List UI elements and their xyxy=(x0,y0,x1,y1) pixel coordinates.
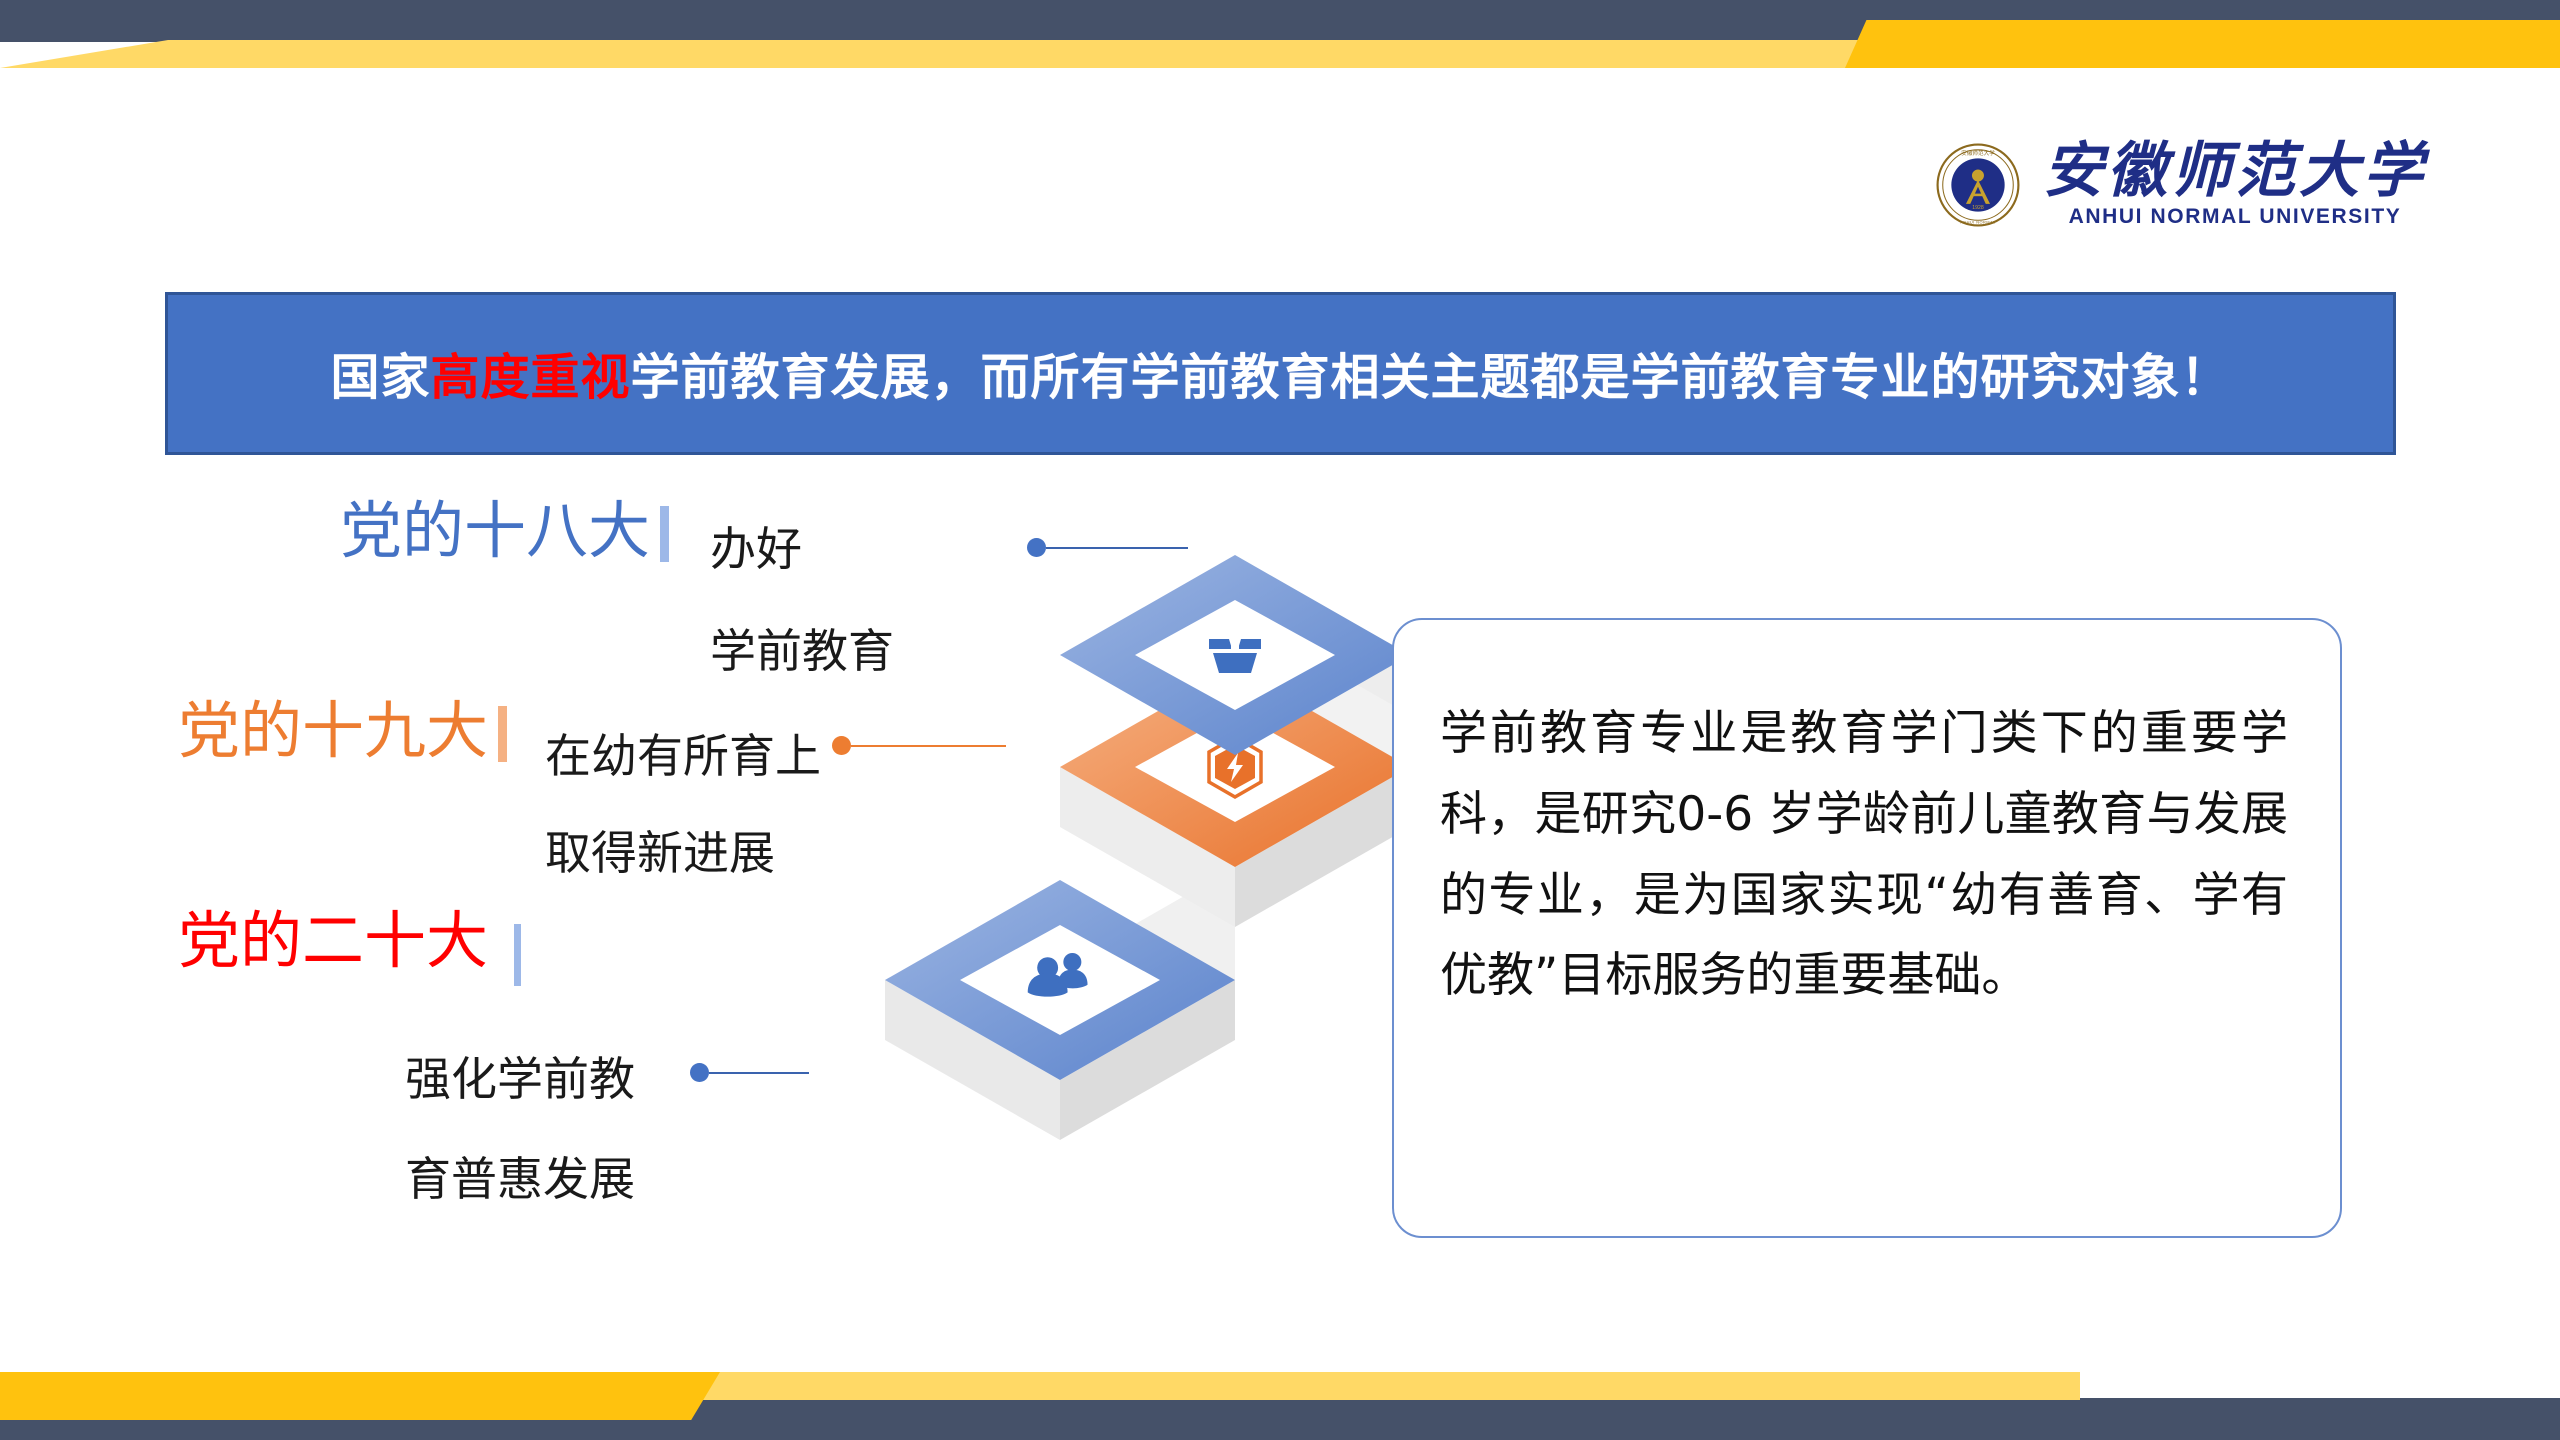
logo-chinese-name: 安徽师范大学 xyxy=(2043,140,2427,203)
step-label-1: 党的十八大 xyxy=(340,500,669,562)
step-title-3: 党的二十大 xyxy=(178,910,488,972)
headline-banner: 国家高度重视学前教育发展，而所有学前教育相关主题都是学前教育专业的研究对象！ xyxy=(165,292,2396,455)
info-box: 学前教育专业是教育学门类下的重要学科，是研究0-6 岁学龄前儿童教育与发展的专业… xyxy=(1392,618,2342,1238)
banner-prefix: 国家 xyxy=(330,349,430,406)
isometric-staircase-graphic xyxy=(690,505,1410,1155)
step-accent-bar-2 xyxy=(498,706,507,762)
step-label-3: 党的二十大 xyxy=(178,910,521,986)
logo-english-name: ANHUI NORMAL UNIVERSITY xyxy=(2069,205,2402,229)
step-description-3-line1: 强化学前教 xyxy=(405,1048,635,1110)
top-yellow-light-stripe xyxy=(0,40,2100,68)
university-logo: 1928 安徽师范大学 ANHUI NORMAL 安徽师范大学 ANHUI NO… xyxy=(1935,140,2427,229)
step-accent-bar-3 xyxy=(514,924,521,986)
banner-suffix: 学前教育发展，而所有学前教育相关主题都是学前教育专业的研究对象！ xyxy=(631,349,2231,406)
step-title-1: 党的十八大 xyxy=(340,500,650,562)
top-dark-bar-right xyxy=(1860,0,2560,22)
top-yellow-gold-stripe xyxy=(1845,20,2560,68)
bottom-dark-bar-left xyxy=(0,1418,760,1440)
step-title-2: 党的十九大 xyxy=(178,700,488,762)
svg-text:安徽师范大学: 安徽师范大学 xyxy=(1961,148,1995,156)
step-label-2: 党的十九大 xyxy=(178,700,507,762)
banner-highlight: 高度重视 xyxy=(430,349,630,406)
step-description-3-line2: 育普惠发展 xyxy=(405,1148,635,1210)
headline-banner-text: 国家高度重视学前教育发展，而所有学前教育相关主题都是学前教育专业的研究对象！ xyxy=(330,338,2230,409)
step-accent-bar-1 xyxy=(660,506,669,562)
bottom-yellow-gold-stripe xyxy=(0,1372,720,1420)
svg-text:1928: 1928 xyxy=(1972,205,1984,211)
slide-canvas: 1928 安徽师范大学 ANHUI NORMAL 安徽师范大学 ANHUI NO… xyxy=(0,0,2560,1440)
info-box-text: 学前教育专业是教育学门类下的重要学科，是研究0-6 岁学龄前儿童教育与发展的专业… xyxy=(1440,694,2288,1017)
university-seal-icon: 1928 安徽师范大学 ANHUI NORMAL xyxy=(1935,142,2021,228)
svg-text:ANHUI NORMAL: ANHUI NORMAL xyxy=(1960,219,1996,224)
